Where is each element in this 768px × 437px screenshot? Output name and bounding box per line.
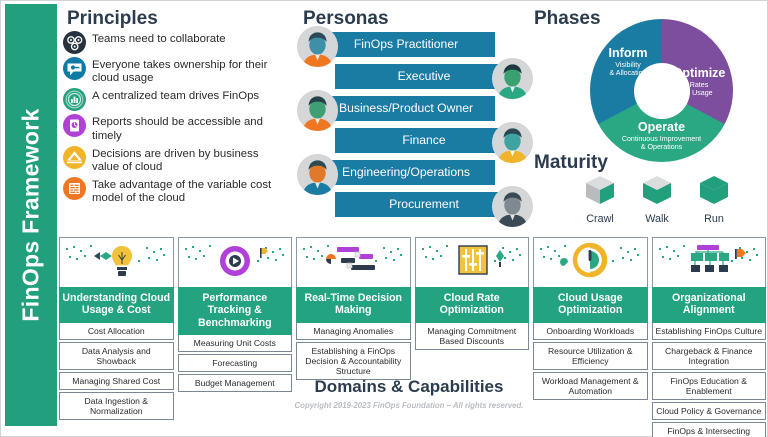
principle-label: Decisions are driven by business value o… [92,146,288,174]
principles-heading: Principles [67,8,158,30]
phases-donut-chart: Inform Visibility & Allocation Optimize … [590,19,733,162]
copyright-notice: Copyright 2019-2023 FinOps Foundation – … [59,401,759,410]
capability-row[interactable]: Data Analysis and Showback [59,342,174,370]
principle-item: Everyone takes ownership for their cloud… [63,57,288,85]
principle-label: Teams need to collaborate [92,31,226,46]
maturity-level: Walk [634,173,680,225]
org-chart-illustration [652,237,767,287]
principles-list: Teams need to collaborate Everyone takes… [63,31,288,209]
maturity-level: Run [691,173,737,225]
value-diamond-icon [63,146,86,169]
capability-row[interactable]: Managing Commitment Based Discounts [415,323,530,350]
maturity-level: Crawl [577,173,623,225]
persona-avatar [492,186,533,227]
phase-sub-operate-1: Continuous Improvement [602,136,722,144]
principle-item: A centralized team drives FinOps [63,88,288,111]
persona-bar[interactable]: Executive [335,64,513,89]
persona-bar[interactable]: Engineering/Operations [317,160,495,185]
persona-row: Engineering/Operations [297,160,533,192]
persona-avatar [297,26,338,67]
capability-row[interactable]: Managing Anomalies [296,323,411,340]
phase-name-optimize: Optimize [663,67,735,81]
principle-item: Teams need to collaborate [63,31,288,54]
domain-card-title[interactable]: Cloud Usage Optimization [533,287,648,323]
domain-card-title[interactable]: Performance Tracking & Benchmarking [178,287,293,335]
domains-capabilities-title: Domains & Capabilities [59,377,759,397]
persona-row: Procurement [297,192,533,224]
domain-card-title[interactable]: Understanding Cloud Usage & Cost [59,287,174,323]
principle-label: Reports should be accessible and timely [92,114,288,142]
persona-avatar [492,122,533,163]
maturity-label: Run [691,213,737,225]
framework-title: FinOps Framework [18,108,45,321]
maturity-cube-icon [577,173,623,212]
persona-avatar [297,90,338,131]
principle-label: Take advantage of the variable cost mode… [92,177,288,205]
phase-sub-optimize-2: & Usage [663,90,735,98]
maturity-levels: Crawl Walk Run [577,173,737,225]
phase-sub-operate-2: & Operations [602,144,722,152]
persona-bar[interactable]: FinOps Practitioner [317,32,495,57]
phase-sub-inform-1: Visibility [592,62,664,70]
maturity-label: Crawl [577,213,623,225]
capability-row[interactable]: Forecasting [178,354,293,372]
gears-icon [63,31,86,54]
domain-card-title[interactable]: Real-Time Decision Making [296,287,411,323]
sliders-illustration [415,237,530,287]
gauge-illustration [533,237,648,287]
capability-row[interactable]: Resource Utilization & Efficiency [533,342,648,370]
maturity-label: Walk [634,213,680,225]
domain-card-title[interactable]: Cloud Rate Optimization [415,287,530,323]
principle-label: Everyone takes ownership for their cloud… [92,57,288,85]
principle-item: Decisions are driven by business value o… [63,146,288,174]
persona-row: Business/Product Owner [297,96,533,128]
capability-row[interactable]: Chargeback & Finance Integration [652,342,767,370]
target-dial-illustration [178,237,293,287]
principle-item: Take advantage of the variable cost mode… [63,177,288,205]
capability-row[interactable]: Onboarding Workloads [533,323,648,340]
persona-row: Finance [297,128,533,160]
capability-row[interactable]: Measuring Unit Costs [178,335,293,352]
persona-bar[interactable]: Procurement [335,192,513,217]
phase-sub-inform-2: & Allocation [592,70,664,78]
gantt-chart-illustration [296,237,411,287]
central-team-icon [63,88,86,111]
phase-name-inform: Inform [592,47,664,61]
capability-row[interactable]: FinOps & Intersecting Frameworks [652,422,767,437]
maturity-cube-icon [634,173,680,212]
phase-label-optimize: Optimize Rates & Usage [663,67,735,98]
persona-bar[interactable]: Business/Product Owner [317,96,495,121]
persona-avatar [297,154,338,195]
phase-sub-optimize-1: Rates [663,82,735,90]
variable-cost-icon [63,177,86,200]
persona-row: Executive [297,64,533,96]
maturity-cube-icon [691,173,737,212]
persona-bar[interactable]: Finance [335,128,513,153]
phase-label-inform: Inform Visibility & Allocation [592,47,664,78]
report-document-icon [63,114,86,137]
domain-card-title[interactable]: Organizational Alignment [652,287,767,323]
framework-title-bar: FinOps Framework [5,4,57,426]
key-speech-icon [63,57,86,80]
finops-framework-diagram: FinOps Framework Principles Personas Pha… [0,0,768,437]
phase-name-operate: Operate [602,121,722,135]
principle-item: Reports should be accessible and timely [63,114,288,142]
persona-row: FinOps Practitioner [297,32,533,64]
persona-avatar [492,58,533,99]
capability-row[interactable]: Establishing FinOps Culture [652,323,767,340]
lightbulb-illustration [59,237,174,287]
phase-label-operate: Operate Continuous Improvement & Operati… [602,121,722,152]
capability-row[interactable]: Establishing a FinOps Decision & Account… [296,342,411,380]
principle-label: A centralized team drives FinOps [92,88,259,103]
capability-row[interactable]: Cost Allocation [59,323,174,340]
personas-list: FinOps Practitioner Executive Business/P… [297,32,533,232]
